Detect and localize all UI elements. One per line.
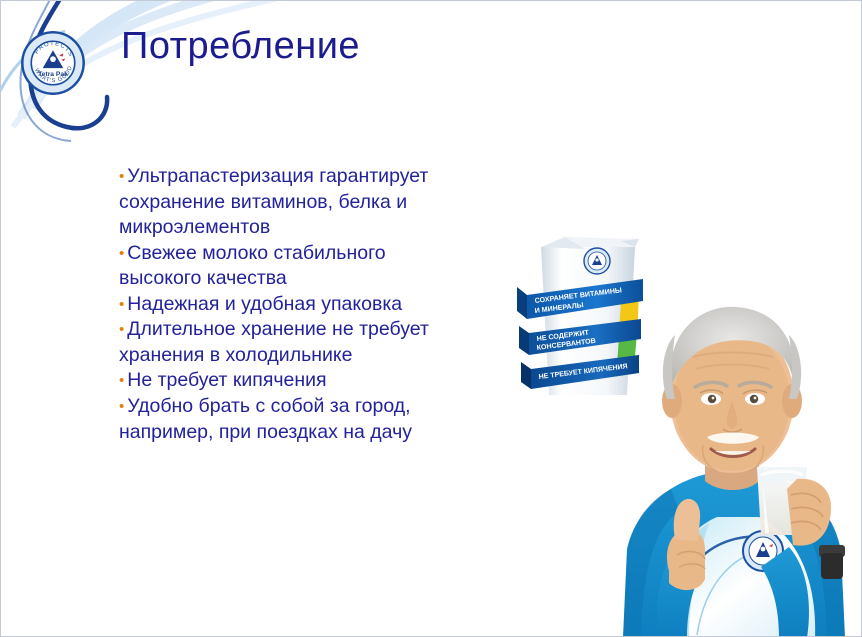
- bullet-text: Не требует кипячения: [127, 369, 326, 391]
- presentation-slide: PROTECTS WHAT'S GOOD Tetra Pak Потреблен…: [0, 0, 862, 637]
- list-item: •Не требует кипячения: [119, 368, 501, 394]
- list-item: •Длительное хранение не требует хранения…: [119, 317, 501, 368]
- logo-brand-name: Tetra Pak: [38, 71, 68, 78]
- bullet-text-cont: например, при поездках на дачу: [119, 420, 501, 446]
- bullet-text-cont: сохранение витаминов, белка и: [119, 190, 501, 216]
- tetra-pak-logo-icon: PROTECTS WHAT'S GOOD Tetra Pak: [21, 31, 85, 95]
- bullet-text: Ультрапастеризация гарантирует: [127, 165, 428, 187]
- bullet-text-cont: высокого качества: [119, 266, 501, 292]
- photo-elderly-man-with-milk: [601, 249, 862, 637]
- slide-title: Потребление: [121, 25, 360, 68]
- list-item: •Свежее молоко стабильного высокого каче…: [119, 241, 501, 292]
- bullet-text: Длительное хранение не требует: [127, 318, 429, 340]
- bullet-text-cont: микроэлементов: [119, 215, 501, 241]
- bullet-list: •Ультрапастеризация гарантирует сохранен…: [119, 164, 501, 445]
- bullet-text: Надежная и удобная упаковка: [127, 293, 402, 315]
- list-item: •Удобно брать с собой за город, например…: [119, 394, 501, 445]
- bullet-text: Свежее молоко стабильного: [127, 242, 385, 264]
- bullet-text: Удобно брать с собой за город,: [127, 395, 410, 417]
- list-item: •Ультрапастеризация гарантирует сохранен…: [119, 164, 501, 241]
- bullet-text-cont: хранения в холодильнике: [119, 343, 501, 369]
- list-item: •Надежная и удобная упаковка: [119, 292, 501, 318]
